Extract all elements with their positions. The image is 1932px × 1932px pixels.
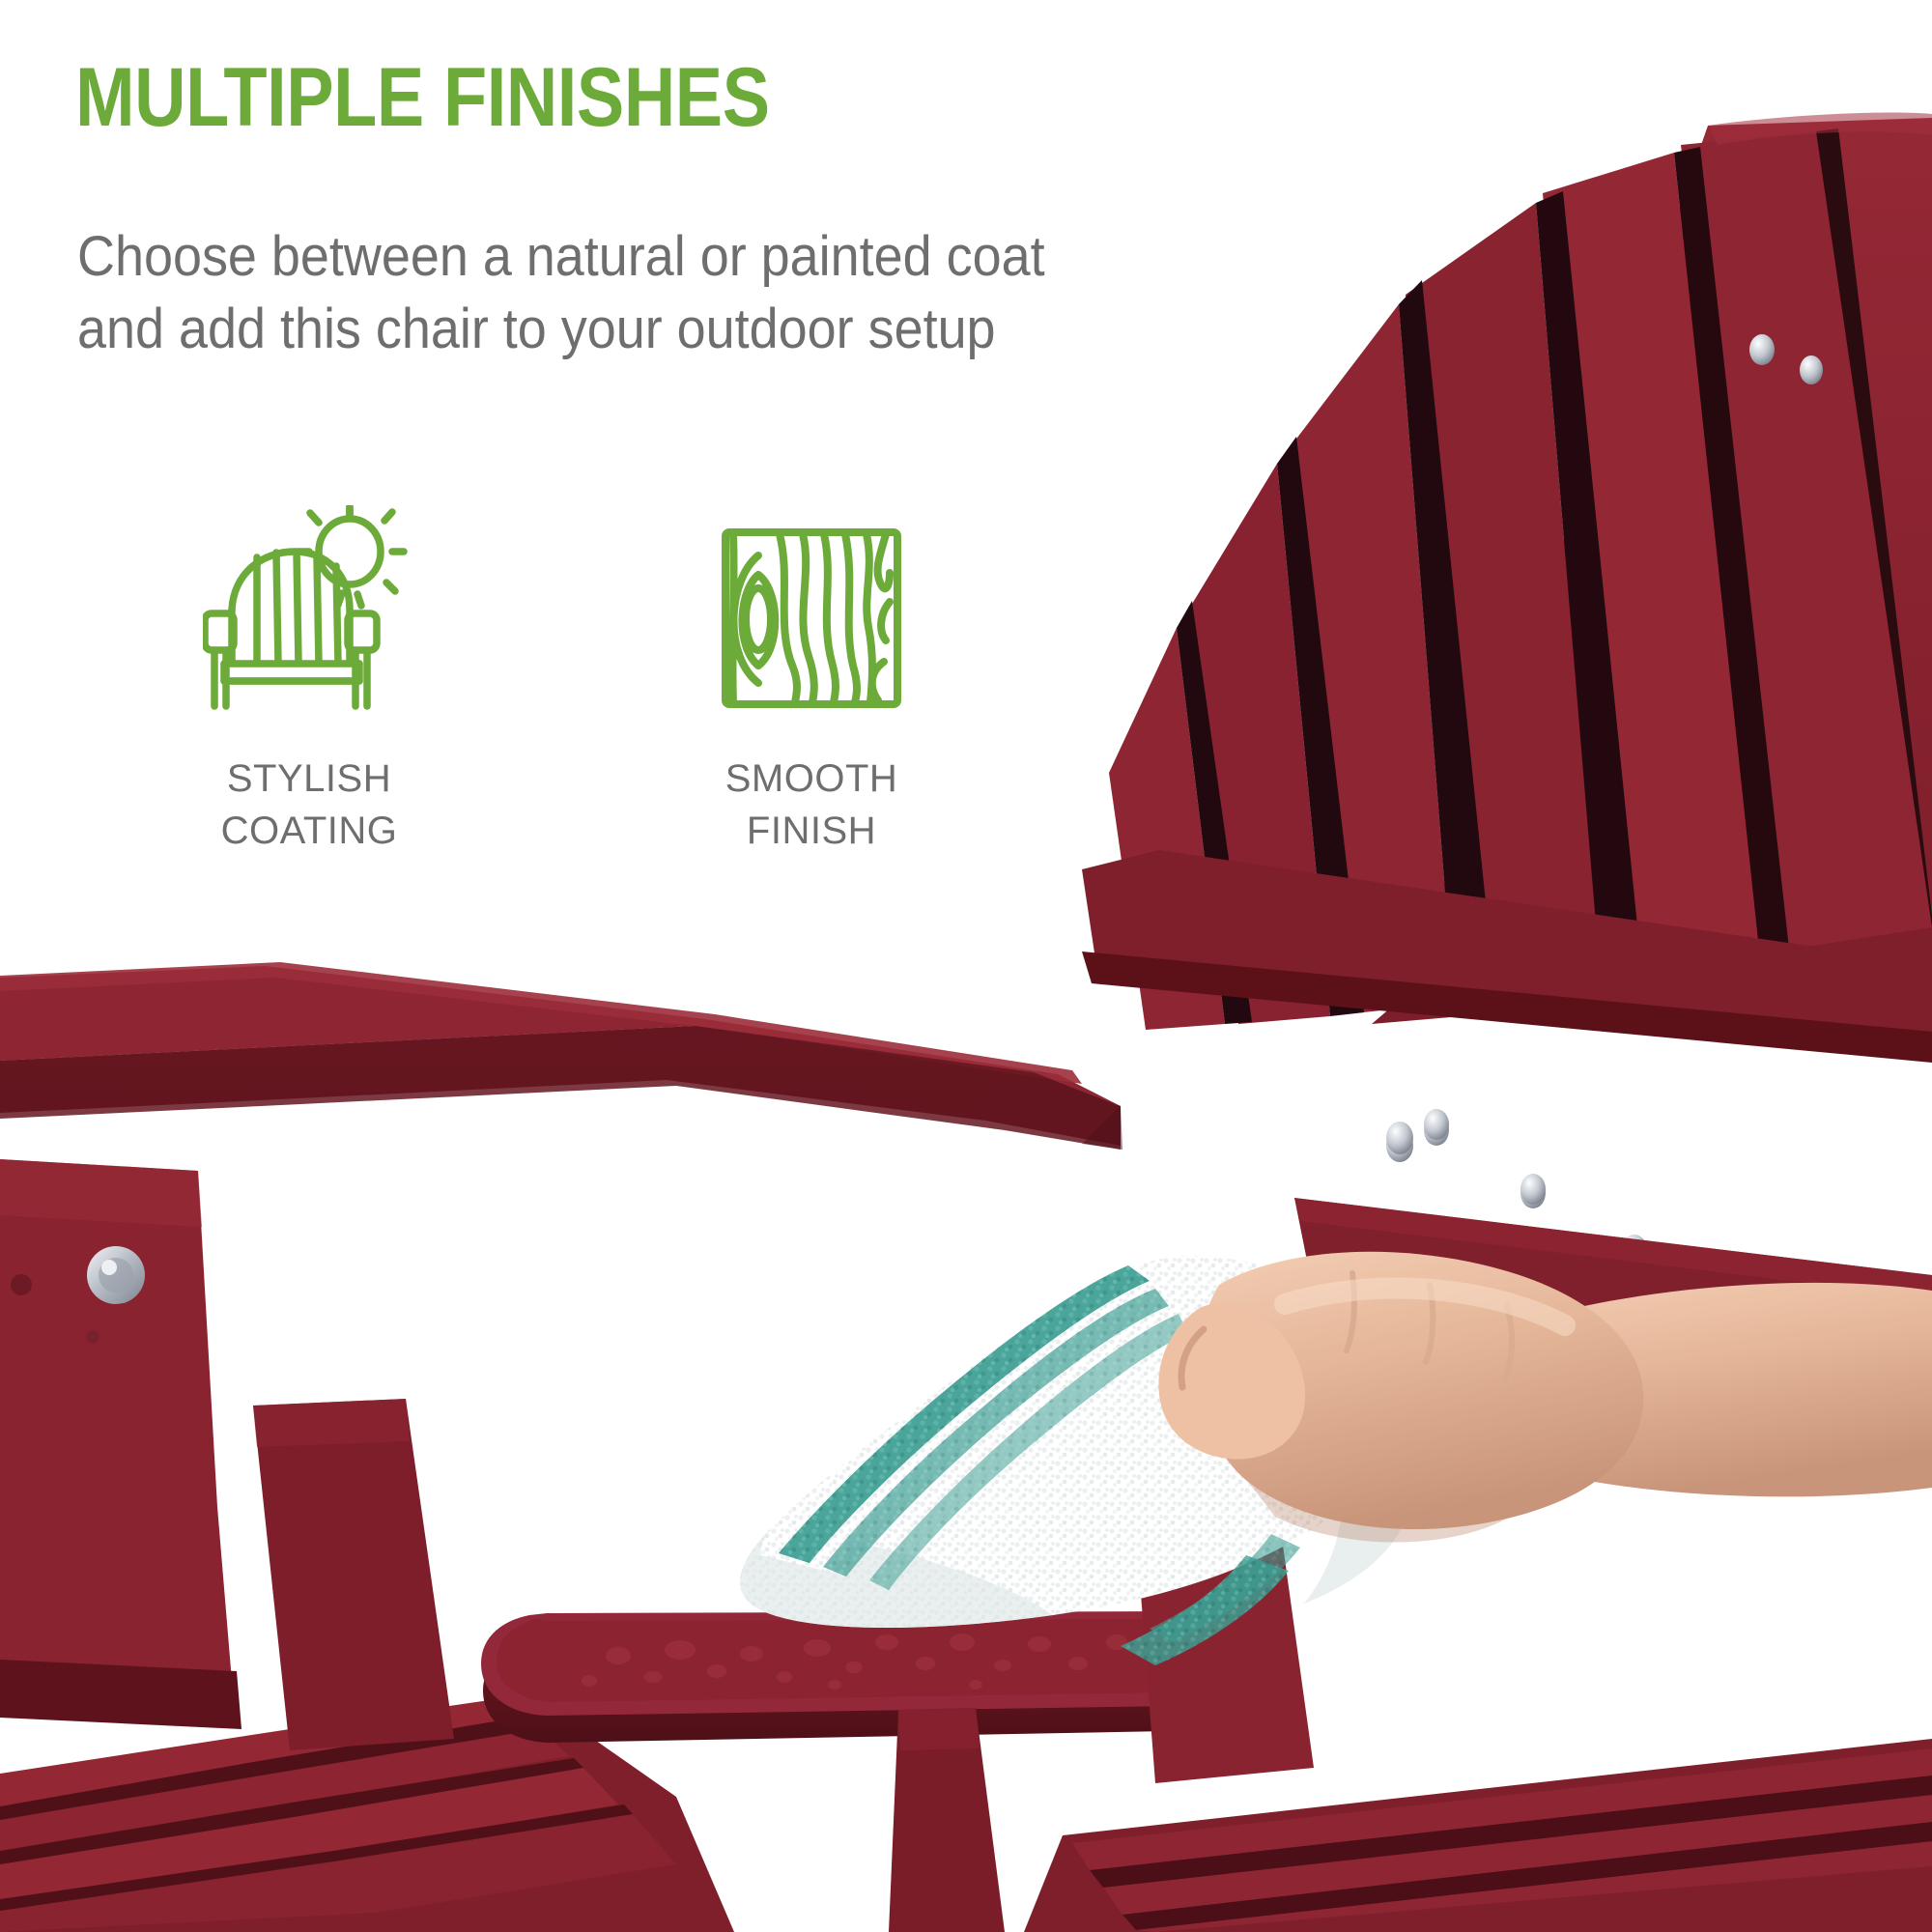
chair-side-panel [0, 1159, 241, 1729]
towel-stripes [779, 1265, 1300, 1665]
feature-list: STYLISH COATING [193, 497, 927, 857]
chair-seat-slats [0, 1399, 734, 1932]
zinc-bolt [87, 1246, 145, 1304]
backrest-screws-lower [1386, 1109, 1647, 1265]
water-droplets [582, 1634, 1163, 1690]
chair-arm-paddle [481, 1611, 1260, 1932]
feature-label: STYLISH COATING [221, 753, 398, 857]
backrest-screws [1386, 334, 1823, 1269]
chair-backrest [1082, 113, 1932, 1270]
feature-smooth-finish: SMOOTH FINISH [696, 497, 927, 857]
chair-right-rail [1294, 1198, 1932, 1381]
chair-shadow-accents [1082, 1106, 1122, 1150]
page-subtitle: Choose between a natural or painted coat… [77, 220, 1045, 366]
page-title: MULTIPLE FINISHES [75, 56, 770, 139]
feature-label: SMOOTH FINISH [725, 753, 898, 857]
chair-armrest [0, 959, 1121, 1150]
adirondack-chair-sun-icon [203, 497, 415, 710]
hand-with-towel [740, 1252, 1932, 1665]
hand [1158, 1252, 1932, 1543]
wood-grain-icon [720, 497, 903, 710]
marketing-image: MULTIPLE FINISHES Choose between a natur… [0, 0, 1932, 1932]
feature-stylish-coating: STYLISH COATING [193, 497, 425, 857]
chair-lower-right-slats [1024, 1420, 1932, 1932]
